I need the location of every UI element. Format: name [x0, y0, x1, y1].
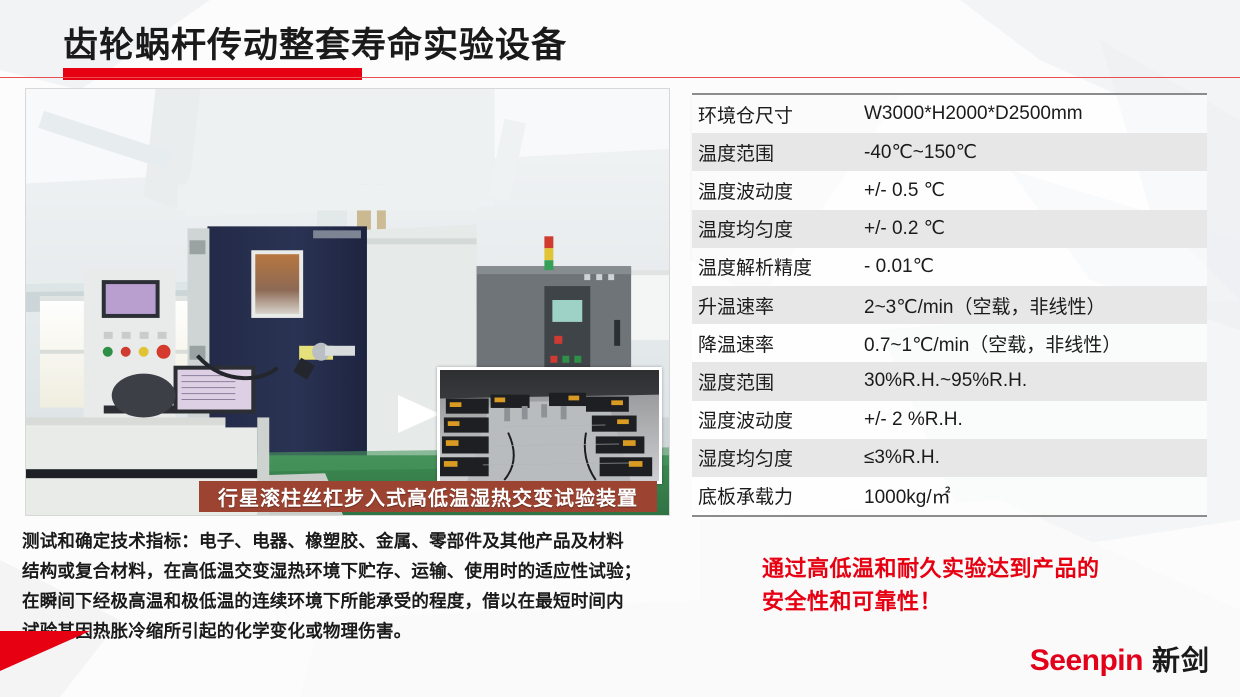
photo-caption-banner: 行星滚柱丝杠步入式高低温湿热交变试验装置	[199, 481, 657, 512]
table-row: 环境仓尺寸 W3000*H2000*D2500mm	[692, 95, 1207, 133]
inset-chamber-interior-photo	[437, 367, 662, 484]
highlight-line-2: 安全性和可靠性！	[762, 585, 1162, 618]
spec-value: -40℃~150℃	[864, 141, 1207, 164]
spec-value: +/- 2 %R.H.	[864, 409, 1207, 431]
table-row: 湿度范围 30%R.H.~95%R.H.	[692, 362, 1207, 400]
title-underline-bar	[63, 68, 362, 80]
highlight-line-1: 通过高低温和耐久实验达到产品的	[762, 552, 1162, 585]
spec-value: ≤3%R.H.	[864, 447, 1207, 469]
spec-label: 升温速率	[692, 292, 864, 319]
spec-value: 0.7~1℃/min（空载，非线性）	[864, 330, 1207, 357]
spec-value: +/- 0.2 ℃	[864, 217, 1207, 240]
table-row: 温度解析精度 - 0.01℃	[692, 248, 1207, 286]
inset-photo-artwork	[440, 370, 659, 481]
specifications-table: 环境仓尺寸 W3000*H2000*D2500mm 温度范围 -40℃~150℃…	[692, 93, 1207, 517]
highlight-callout: 通过高低温和耐久实验达到产品的 安全性和可靠性！	[762, 552, 1162, 618]
description-line-1: 测试和确定技术指标：电子、电器、橡塑胶、金属、零部件及其他产品及材料	[22, 526, 694, 556]
spec-label: 环境仓尺寸	[692, 101, 864, 128]
company-logo: Seenpin 新剑	[1030, 639, 1210, 679]
spec-label: 降温速率	[692, 330, 864, 357]
table-row: 温度范围 -40℃~150℃	[692, 133, 1207, 171]
spec-value: - 0.01℃	[864, 255, 1207, 278]
spec-value: 1000kg/㎡	[864, 482, 1207, 509]
page-title: 齿轮蜗杆传动整套寿命实验设备	[63, 24, 567, 68]
table-row: 升温速率 2~3℃/min（空载，非线性）	[692, 286, 1207, 324]
logo-english-text: Seenpin	[1030, 644, 1143, 678]
table-row: 湿度波动度 +/- 2 %R.H.	[692, 401, 1207, 439]
logo-chinese-text: 新剑	[1152, 639, 1210, 679]
spec-label: 温度解析精度	[692, 253, 864, 280]
footer-red-triangle	[0, 631, 90, 671]
spec-label: 湿度波动度	[692, 406, 864, 433]
inset-photo-pointer	[398, 395, 440, 433]
spec-label: 湿度范围	[692, 368, 864, 395]
spec-value: W3000*H2000*D2500mm	[864, 103, 1207, 125]
table-row: 温度均匀度 +/- 0.2 ℃	[692, 210, 1207, 248]
table-row: 温度波动度 +/- 0.5 ℃	[692, 171, 1207, 209]
table-row: 湿度均匀度 ≤3%R.H.	[692, 439, 1207, 477]
spec-label: 温度范围	[692, 139, 864, 166]
spec-label: 温度波动度	[692, 177, 864, 204]
description-line-2: 结构或复合材料，在高低温交变湿热环境下贮存、运输、使用时的适应性试验；	[22, 556, 694, 586]
spec-value: 2~3℃/min（空载，非线性）	[864, 292, 1207, 319]
table-row: 底板承载力 1000kg/㎡	[692, 477, 1207, 515]
description-paragraph: 测试和确定技术指标：电子、电器、橡塑胶、金属、零部件及其他产品及材料 结构或复合…	[22, 526, 694, 646]
table-row: 降温速率 0.7~1℃/min（空载，非线性）	[692, 324, 1207, 362]
spec-label: 湿度均匀度	[692, 444, 864, 471]
header-divider-line	[0, 77, 1240, 78]
spec-label: 底板承载力	[692, 482, 864, 509]
spec-value: 30%R.H.~95%R.H.	[864, 370, 1207, 392]
page-title-text: 齿轮蜗杆传动整套寿命实验设备	[63, 24, 567, 68]
description-line-3: 在瞬间下经极高温和极低温的连续环境下所能承受的程度，借以在最短时间内	[22, 586, 694, 616]
spec-label: 温度均匀度	[692, 215, 864, 242]
description-line-4: 试验其因热胀冷缩所引起的化学变化或物理伤害。	[22, 616, 694, 646]
spec-value: +/- 0.5 ℃	[864, 179, 1207, 202]
